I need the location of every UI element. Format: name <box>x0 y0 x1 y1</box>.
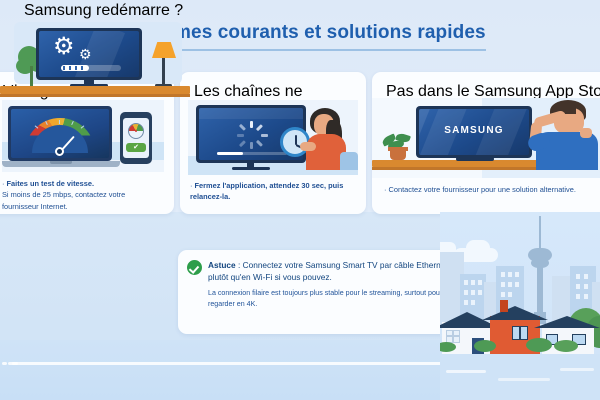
cloud <box>466 240 490 256</box>
restart-shelf <box>0 86 190 94</box>
tip-main-text: Astuce : Connectez votre Samsung Smart T… <box>208 259 468 284</box>
restart-tv-frame: ⚙ ⚙ <box>36 28 142 80</box>
card-body-bold: Faites un test de vitesse. <box>7 179 95 188</box>
city-scene <box>440 212 600 400</box>
card-body: · Fermez l'application, attendez 30 sec,… <box>190 180 360 203</box>
card-body-rest: Contactez votre fournisseur pour une sol… <box>389 185 576 194</box>
river <box>440 354 600 400</box>
phone-screen: ✔ <box>123 118 149 158</box>
tip-main-body: Connectez votre Samsung Smart TV par câb… <box>208 260 448 282</box>
plant-decoration <box>382 134 414 160</box>
loading-progress-fill <box>217 152 243 155</box>
confused-man-figure <box>522 98 600 170</box>
check-circle-icon <box>187 260 202 275</box>
card-body-bold: Fermez l'application, attendez 30 sec, p… <box>190 181 343 201</box>
illustration-tv-loading <box>188 100 358 175</box>
tip-sub-text: La connexion filaire est toujours plus s… <box>208 288 468 310</box>
card-body: · Faites un test de vitesse. Si moins de… <box>2 178 162 212</box>
tip-separator: : <box>236 260 243 270</box>
card-body-rest: Si moins de 25 mbps, contactez votre fou… <box>2 190 125 210</box>
phone-device: ✔ <box>120 112 152 164</box>
bush <box>554 340 578 352</box>
gear-large-icon: ⚙ <box>53 35 75 59</box>
card-body: · Contactez votre fournisseur pour une s… <box>384 184 600 195</box>
bush <box>474 340 496 352</box>
restart-tv-screen: ⚙ ⚙ <box>39 31 139 77</box>
tip-box: Astuce : Connectez votre Samsung Smart T… <box>178 250 478 334</box>
water-streak <box>12 362 18 365</box>
card-not-in-app-store: Pas dans le Samsung App Store ? SAMSUNG <box>372 72 600 214</box>
gauge-value: 12.5 <box>41 157 62 158</box>
bullet-mark: · <box>2 179 4 188</box>
card-channels-not-loading: Les chaînes ne chargent pas ? <box>180 72 366 214</box>
phone-confirm-button[interactable]: ✔ <box>126 143 146 152</box>
samsung-tv-frame: SAMSUNG <box>416 106 532 158</box>
card-samsung-restarting: Samsung redémarre ? ⚙ ⚙ <box>0 0 196 118</box>
bullet-mark: · <box>190 181 192 190</box>
lamp-decoration <box>150 42 180 88</box>
bullet-mark: · <box>384 185 386 194</box>
samsung-tv-screen: SAMSUNG <box>419 109 529 155</box>
illustration-samsung-tv-man: SAMSUNG <box>372 98 600 178</box>
tv-foot <box>232 167 270 170</box>
tip-label: Astuce <box>208 260 236 270</box>
gear-small-icon: ⚙ <box>79 47 92 61</box>
bush <box>526 338 552 352</box>
illustration-tv-restarting: ⚙ ⚙ <box>0 18 196 113</box>
person-figure <box>300 108 358 170</box>
water-streak <box>2 362 7 365</box>
laptop-screen: 12.5 Mbps <box>8 106 112 161</box>
samsung-logo-text: SAMSUNG <box>419 125 529 136</box>
laptop-screen-content: 12.5 Mbps <box>11 109 109 158</box>
